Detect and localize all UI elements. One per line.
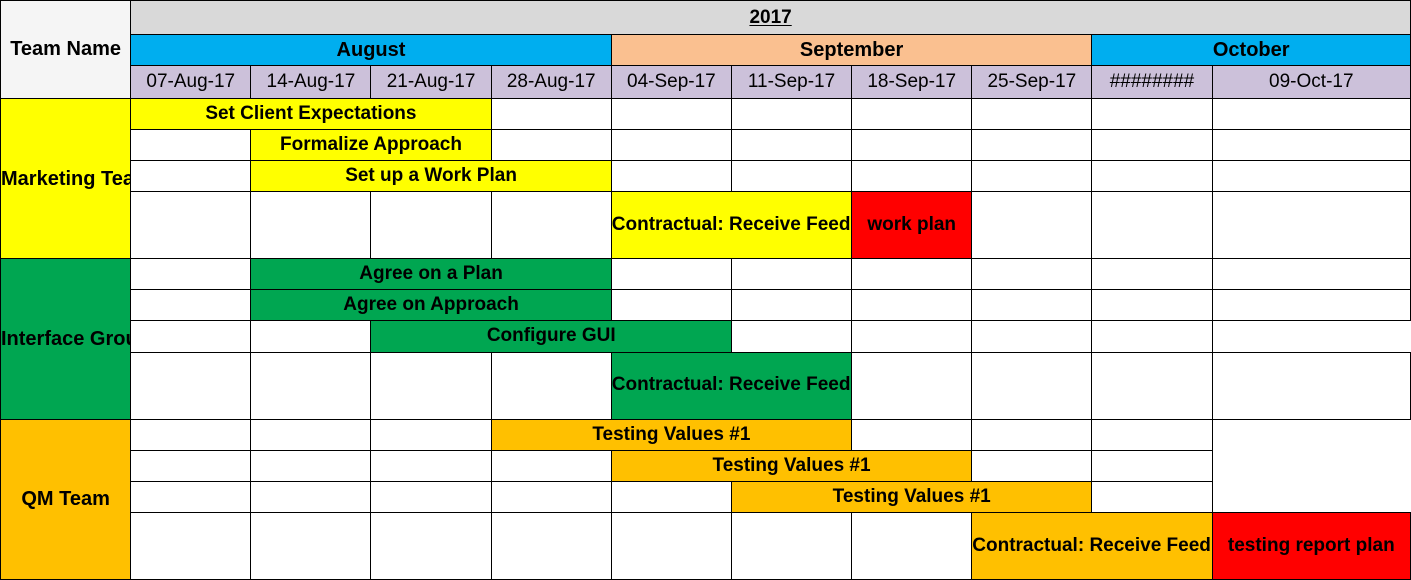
team-label-marketing: Marketing Team <box>1 99 131 259</box>
grid-cell <box>972 99 1092 130</box>
task-bar-testing-values-1b[interactable]: Testing Values #1 <box>611 450 971 481</box>
grid-cell <box>611 161 731 192</box>
grid-cell <box>131 259 251 290</box>
week-header-4: 28-Aug-17 <box>491 66 611 99</box>
grid-cell <box>611 99 731 130</box>
week-header-9: ######## <box>1092 66 1212 99</box>
grid-cell <box>852 130 972 161</box>
task-bar-set-client-expectations[interactable]: Set Client Expectations <box>131 99 491 130</box>
grid-cell <box>611 481 731 512</box>
milestone-testing-report-plan[interactable]: testing report plan <box>1212 512 1410 579</box>
task-row-interface-3: Configure GUI <box>1 321 1411 352</box>
task-bar-testing-values-1a[interactable]: Testing Values #1 <box>491 419 851 450</box>
grid-cell <box>731 99 851 130</box>
task-row-marketing-2: Formalize Approach <box>1 130 1411 161</box>
grid-cell <box>972 352 1092 419</box>
grid-cell <box>1212 290 1410 321</box>
grid-cell <box>371 419 491 450</box>
month-header-september: September <box>611 35 1092 66</box>
team-name-header: Team Name <box>1 1 131 99</box>
grid-cell <box>371 192 491 259</box>
grid-cell <box>131 481 251 512</box>
grid-cell <box>131 512 251 579</box>
header-month-row: August September October <box>1 35 1411 66</box>
grid-cell <box>1212 130 1410 161</box>
grid-cell <box>852 290 972 321</box>
grid-cell <box>251 512 371 579</box>
task-row-interface-2: Agree on Approach <box>1 290 1411 321</box>
month-header-august: August <box>131 35 612 66</box>
grid-cell <box>1212 161 1410 192</box>
grid-cell <box>491 192 611 259</box>
grid-cell <box>1212 259 1410 290</box>
grid-cell <box>251 352 371 419</box>
task-bar-marketing-contractual-receive-feedback[interactable]: Contractual: Receive Feedback <box>611 192 851 259</box>
grid-cell <box>731 290 851 321</box>
task-row-marketing-4: Contractual: Receive Feedback work plan <box>1 192 1411 259</box>
task-bar-configure-gui[interactable]: Configure GUI <box>371 321 731 352</box>
grid-cell <box>1092 450 1212 481</box>
task-row-qm-2: Testing Values #1 <box>1 450 1411 481</box>
grid-cell <box>852 259 972 290</box>
gantt-chart-table: Team Name 2017 August September October … <box>0 0 1411 580</box>
grid-cell <box>1092 259 1212 290</box>
grid-cell <box>491 481 611 512</box>
grid-cell <box>251 481 371 512</box>
grid-cell <box>1212 99 1410 130</box>
week-header-5: 04-Sep-17 <box>611 66 731 99</box>
team-label-qm: QM Team <box>1 419 131 579</box>
grid-cell <box>1212 352 1410 419</box>
task-row-marketing-3: Set up a Work Plan <box>1 161 1411 192</box>
grid-cell <box>852 512 972 579</box>
grid-cell <box>1092 321 1212 352</box>
week-header-2: 14-Aug-17 <box>251 66 371 99</box>
week-header-10: 09-Oct-17 <box>1212 66 1410 99</box>
grid-cell <box>972 161 1092 192</box>
milestone-work-plan[interactable]: work plan <box>852 192 972 259</box>
grid-cell <box>611 130 731 161</box>
task-bar-formalize-approach[interactable]: Formalize Approach <box>251 130 491 161</box>
grid-cell <box>131 352 251 419</box>
grid-cell <box>731 130 851 161</box>
task-bar-agree-on-a-plan[interactable]: Agree on a Plan <box>251 259 611 290</box>
header-week-row: 07-Aug-17 14-Aug-17 21-Aug-17 28-Aug-17 … <box>1 66 1411 99</box>
grid-cell <box>1092 290 1212 321</box>
team-label-interface: Interface Group <box>1 259 131 419</box>
grid-cell <box>731 161 851 192</box>
grid-cell <box>852 419 972 450</box>
grid-cell <box>852 99 972 130</box>
grid-cell <box>972 259 1092 290</box>
week-header-3: 21-Aug-17 <box>371 66 491 99</box>
grid-cell <box>1092 130 1212 161</box>
week-header-7: 18-Sep-17 <box>852 66 972 99</box>
task-row-qm-1: QM Team Testing Values #1 <box>1 419 1411 450</box>
grid-cell <box>972 450 1092 481</box>
task-row-marketing-1: Marketing Team Set Client Expectations <box>1 99 1411 130</box>
grid-cell <box>852 321 972 352</box>
grid-cell <box>1092 161 1212 192</box>
grid-cell <box>731 259 851 290</box>
year-header: 2017 <box>131 1 1411 35</box>
grid-cell <box>1092 419 1212 450</box>
week-header-8: 25-Sep-17 <box>972 66 1092 99</box>
grid-cell <box>131 161 251 192</box>
grid-cell <box>491 352 611 419</box>
task-row-interface-4: Contractual: Receive Feedback <box>1 352 1411 419</box>
grid-cell <box>131 321 251 352</box>
grid-cell <box>972 321 1092 352</box>
week-header-6: 11-Sep-17 <box>731 66 851 99</box>
grid-cell <box>972 192 1092 259</box>
grid-cell <box>491 450 611 481</box>
grid-cell <box>491 512 611 579</box>
grid-cell <box>131 130 251 161</box>
task-row-qm-3: Testing Values #1 <box>1 481 1411 512</box>
grid-cell <box>611 259 731 290</box>
week-header-1: 07-Aug-17 <box>131 66 251 99</box>
grid-cell <box>131 290 251 321</box>
grid-cell <box>1092 192 1212 259</box>
task-row-interface-1: Interface Group Agree on a Plan <box>1 259 1411 290</box>
header-year-row: Team Name 2017 <box>1 1 1411 35</box>
grid-cell <box>251 419 371 450</box>
grid-cell <box>1092 352 1212 419</box>
grid-cell <box>251 450 371 481</box>
grid-cell <box>972 419 1092 450</box>
grid-cell <box>852 161 972 192</box>
grid-cell <box>251 321 371 352</box>
grid-cell <box>131 450 251 481</box>
grid-cell <box>972 290 1092 321</box>
grid-cell <box>371 450 491 481</box>
grid-cell <box>1092 481 1212 512</box>
grid-cell <box>731 321 851 352</box>
grid-cell <box>972 130 1092 161</box>
grid-cell <box>852 352 972 419</box>
grid-cell <box>371 512 491 579</box>
task-row-qm-4: Contractual: Receive Feedback testing re… <box>1 512 1411 579</box>
grid-cell <box>611 512 731 579</box>
grid-cell <box>1092 99 1212 130</box>
grid-cell <box>611 290 731 321</box>
grid-cell <box>1212 192 1410 259</box>
grid-cell <box>731 512 851 579</box>
year-label: 2017 <box>749 7 791 28</box>
grid-cell <box>251 192 371 259</box>
task-bar-testing-values-1c[interactable]: Testing Values #1 <box>731 481 1091 512</box>
month-header-october: October <box>1092 35 1411 66</box>
task-bar-set-up-a-work-plan[interactable]: Set up a Work Plan <box>251 161 611 192</box>
task-bar-qm-contractual-receive-feedback[interactable]: Contractual: Receive Feedback <box>972 512 1212 579</box>
grid-cell <box>131 192 251 259</box>
grid-cell <box>131 419 251 450</box>
grid-cell <box>491 99 611 130</box>
task-bar-interface-contractual-receive-feedback[interactable]: Contractual: Receive Feedback <box>611 352 851 419</box>
task-bar-agree-on-approach[interactable]: Agree on Approach <box>251 290 611 321</box>
grid-cell <box>371 481 491 512</box>
grid-cell <box>491 130 611 161</box>
grid-cell <box>371 352 491 419</box>
